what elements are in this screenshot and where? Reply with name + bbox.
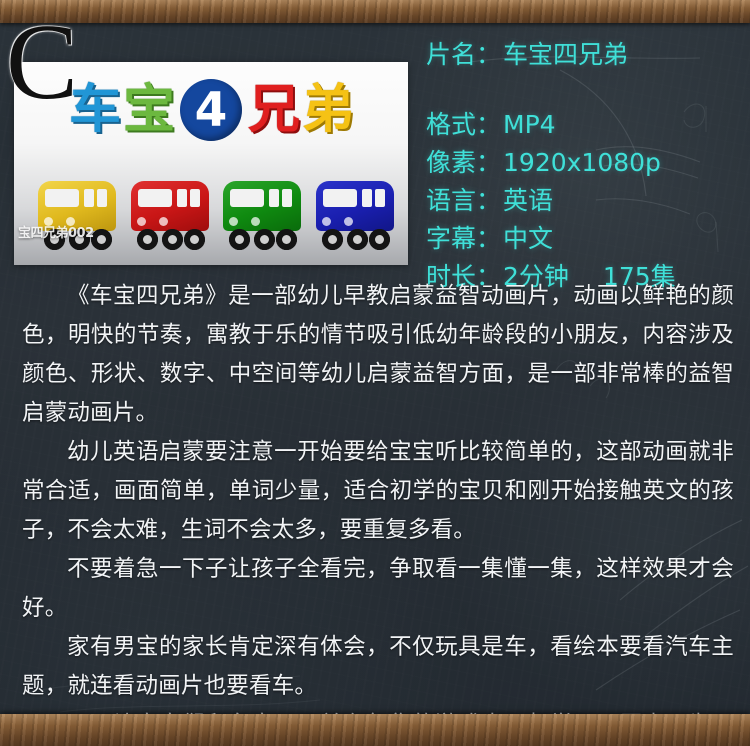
wood-frame-top	[0, 0, 750, 23]
metadata-value-language: 英语	[503, 182, 553, 220]
description-paragraph-2: 幼儿英语启蒙要注意一开始要给宝宝听比较简单的，这部动画就非常合适，画面简单，单词…	[22, 433, 734, 550]
metadata-label-language: 语言：	[426, 182, 501, 220]
description-paragraph-4: 家有男宝的家长肯定深有体会，不仅玩具是车，看绘本要看汽车主题，就连看动画片也要看…	[22, 628, 734, 706]
blue-car-icon	[314, 167, 398, 251]
logo-number-badge: 4	[180, 79, 242, 141]
metadata-list: 片名： 车宝四兄弟 格式： MP4 像素： 1920x1080p 语言： 英语 …	[426, 36, 738, 296]
metadata-row-title: 片名： 车宝四兄弟	[426, 36, 738, 74]
red-car-icon	[129, 167, 213, 251]
metadata-row-resolution: 像素： 1920x1080p	[426, 144, 738, 182]
metadata-label-title: 片名：	[426, 36, 501, 74]
cover-watermark: 宝四兄弟002	[18, 222, 94, 241]
metadata-value-subtitle: 中文	[503, 220, 553, 258]
wood-frame-bottom	[0, 714, 750, 746]
chalkboard-poster: C 车 宝 4 兄 弟	[0, 0, 750, 746]
green-car-icon	[221, 167, 305, 251]
description-paragraph-3: 不要着急一下子让孩子全看完，争取看一集懂一集，这样效果才会好。	[22, 550, 734, 628]
metadata-row-language: 语言： 英语	[426, 182, 738, 220]
logo-char-xiong: 兄	[248, 84, 299, 136]
corner-letter-c: C	[6, 14, 78, 112]
metadata-row-format: 格式： MP4	[426, 106, 738, 144]
logo-number: 4	[195, 87, 228, 134]
metadata-label-resolution: 像素：	[426, 144, 501, 182]
logo-char-di: 弟	[302, 84, 353, 136]
logo-char-bao: 宝	[123, 84, 174, 136]
description-body: 《车宝四兄弟》是一部幼儿早教启蒙益智动画片，动画以鲜艳的颜色，明快的节奏，寓教于…	[22, 277, 734, 746]
description-paragraph-1: 《车宝四兄弟》是一部幼儿早教启蒙益智动画片，动画以鲜艳的颜色，明快的节奏，寓教于…	[22, 277, 734, 433]
metadata-value-title: 车宝四兄弟	[503, 36, 628, 74]
metadata-label-format: 格式：	[426, 106, 501, 144]
metadata-value-resolution: 1920x1080p	[503, 144, 661, 182]
metadata-label-subtitle: 字幕：	[426, 220, 501, 258]
metadata-row-subtitle: 字幕： 中文	[426, 220, 738, 258]
metadata-value-format: MP4	[503, 106, 556, 144]
